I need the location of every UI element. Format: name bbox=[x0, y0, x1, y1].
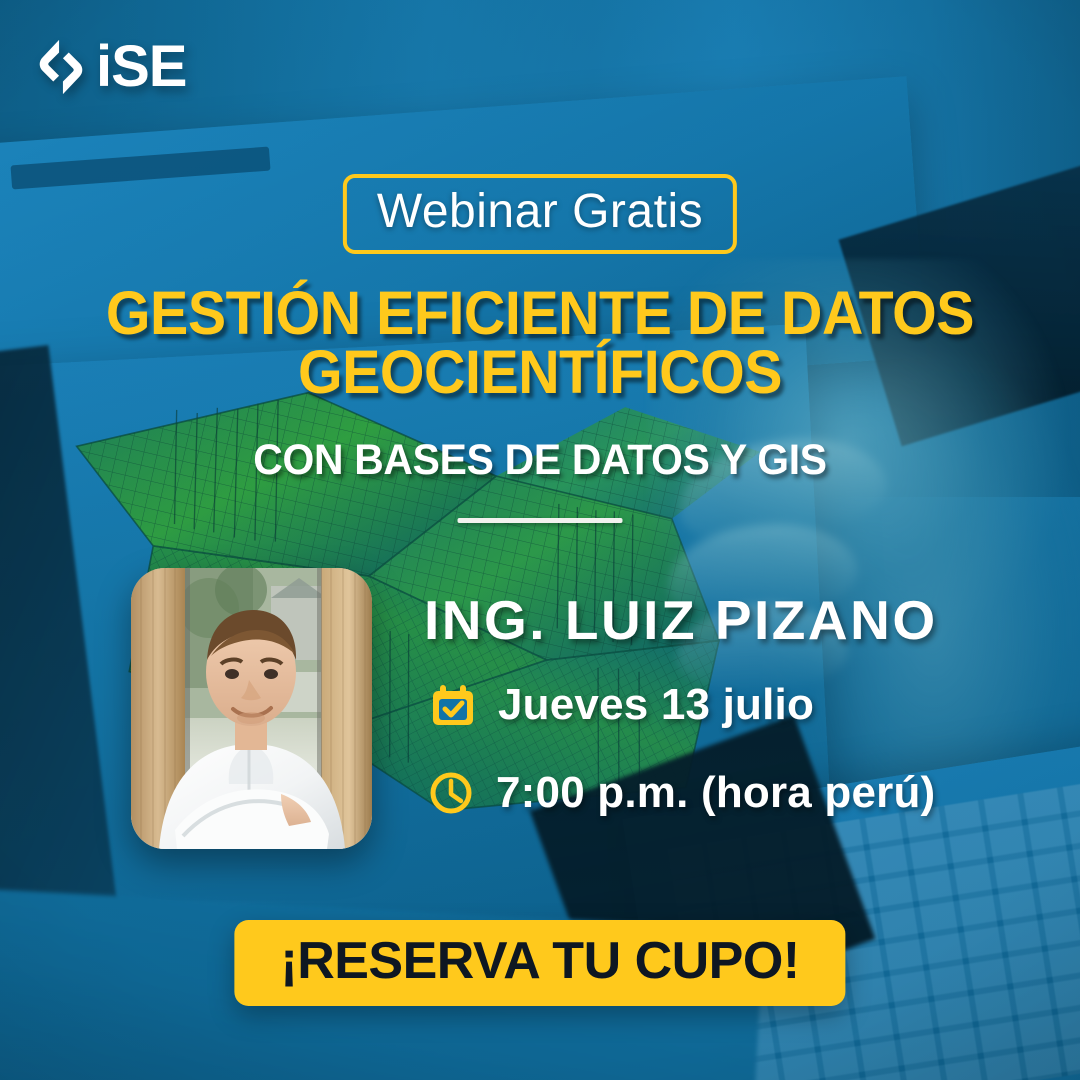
detail-date-text: Jueves 13 julio bbox=[498, 680, 814, 730]
clock-icon bbox=[428, 770, 474, 816]
divider-rule bbox=[458, 518, 623, 523]
subtitle: CON BASES DE DATOS Y GIS bbox=[27, 436, 1053, 485]
poster-content: iSE Webinar Gratis GESTIÓN EFICIENTE DE … bbox=[0, 0, 1080, 1080]
webinar-promo-poster: iSE Webinar Gratis GESTIÓN EFICIENTE DE … bbox=[0, 0, 1080, 1080]
detail-time-text: 7:00 p.m. (hora perú) bbox=[496, 768, 935, 818]
cta-label: ¡RESERVA TU CUPO! bbox=[280, 932, 799, 990]
brand-wordmark: iSE bbox=[96, 38, 187, 96]
title-line-2: GEOCIENTÍFICOS bbox=[32, 343, 1047, 402]
title-line-1: GESTIÓN EFICIENTE DE DATOS bbox=[32, 284, 1047, 343]
ise-double-chevron-logo-icon bbox=[30, 36, 92, 98]
webinar-gratis-badge: Webinar Gratis bbox=[343, 174, 737, 254]
speaker-photo bbox=[131, 568, 372, 849]
detail-row-date: Jueves 13 julio bbox=[430, 680, 814, 730]
main-title: GESTIÓN EFICIENTE DE DATOS GEOCIENTÍFICO… bbox=[0, 284, 1080, 401]
detail-row-time: 7:00 p.m. (hora perú) bbox=[428, 768, 935, 818]
brand-logo: iSE bbox=[30, 36, 187, 98]
badge-label: Webinar Gratis bbox=[377, 187, 703, 237]
calendar-check-icon bbox=[430, 682, 476, 728]
reserve-spot-button[interactable]: ¡RESERVA TU CUPO! bbox=[234, 920, 845, 1006]
speaker-name: ING. LUIZ PIZANO bbox=[424, 588, 938, 652]
speaker-portrait-illustration bbox=[131, 568, 372, 849]
